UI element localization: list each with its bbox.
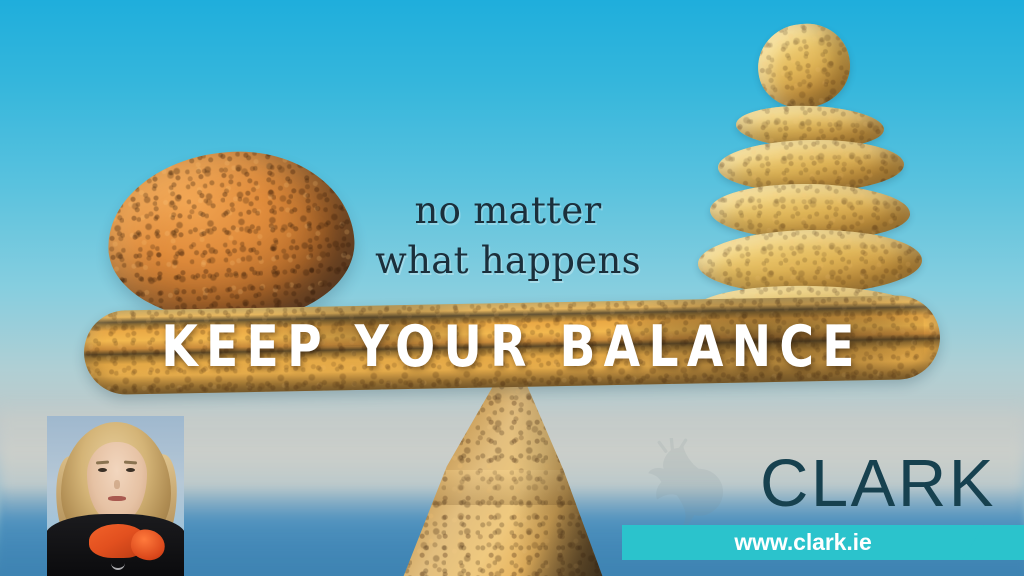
eye-left bbox=[98, 468, 107, 472]
stone-cairn-stack bbox=[690, 18, 935, 330]
tagline: no matter what happens bbox=[338, 186, 678, 286]
presenter-portrait bbox=[47, 416, 184, 576]
necklace bbox=[111, 556, 125, 570]
cairn-stone-1 bbox=[754, 19, 854, 112]
nose bbox=[114, 480, 120, 489]
brand-name-clark: CLARK bbox=[760, 449, 996, 519]
headline: KEEP YOUR BALANCE bbox=[41, 316, 983, 378]
mouth bbox=[108, 496, 126, 501]
eye-right bbox=[126, 468, 135, 472]
tagline-line-2: what happens bbox=[338, 236, 678, 286]
tagline-line-1: no matter bbox=[414, 189, 601, 232]
url-label[interactable]: www.clark.ie bbox=[622, 525, 984, 560]
poster-canvas: no matter what happens KEEP YOUR BALANCE… bbox=[0, 0, 1024, 576]
